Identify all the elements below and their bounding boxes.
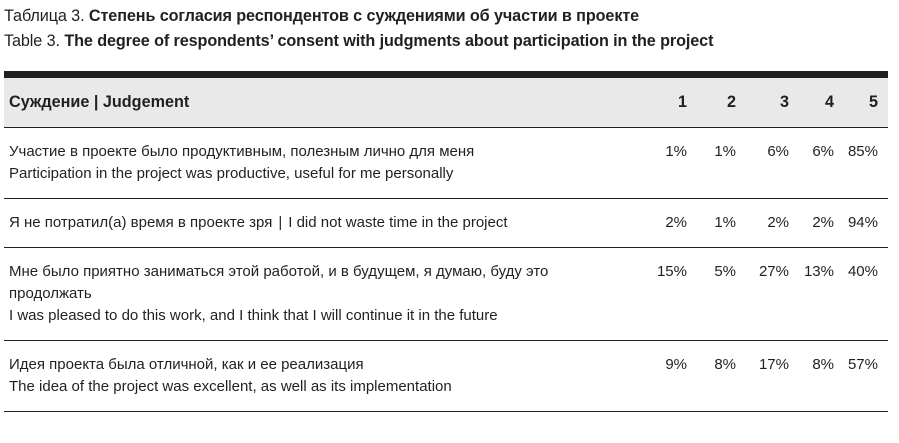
- value-5: 40%: [844, 248, 888, 341]
- caption-title-ru: Степень согласия респондентов с суждения…: [89, 7, 639, 25]
- judgement-ru: Идея проекта была отличной, как и ее реа…: [9, 354, 648, 376]
- value-1: 9%: [648, 341, 697, 412]
- caption-line-en: Table 3. The degree of respondents’ cons…: [4, 29, 895, 54]
- judgement-inline: Я не потратил(а) время в проекте зря|I d…: [9, 212, 648, 234]
- judgement-en: I did not waste time in the project: [288, 214, 507, 231]
- caption-title-en: The degree of respondents’ consent with …: [64, 32, 713, 50]
- judgement-text: Идея проекта была отличной, как и ее реа…: [4, 341, 648, 412]
- column-header-judgement: Суждение | Judgement: [4, 78, 648, 128]
- value-4: 6%: [799, 128, 844, 199]
- judgement-ru-cont: продолжать: [9, 283, 648, 305]
- judgement-ru: Я не потратил(а) время в проекте зря: [9, 214, 272, 231]
- table-row: Идея проекта была отличной, как и ее реа…: [4, 341, 888, 412]
- judgement-text: Участие в проекте было продуктивным, пол…: [4, 128, 648, 199]
- value-1: 1%: [648, 128, 697, 199]
- value-5: 94%: [844, 199, 888, 248]
- value-3: 27%: [746, 248, 799, 341]
- judgement-en: I was pleased to do this work, and I thi…: [9, 305, 648, 327]
- value-3: 17%: [746, 341, 799, 412]
- table-head: Суждение | Judgement 1 2 3 4 5: [4, 78, 888, 128]
- column-header-1: 1: [648, 78, 697, 128]
- value-1: 2%: [648, 199, 697, 248]
- caption-label-en: Table 3.: [4, 32, 60, 50]
- value-2: 1%: [697, 199, 746, 248]
- judgement-text: Мне было приятно заниматься этой работой…: [4, 248, 648, 341]
- column-header-4: 4: [799, 78, 844, 128]
- table-figure: Таблица 3. Степень согласия респондентов…: [0, 0, 899, 443]
- value-5: 85%: [844, 128, 888, 199]
- value-2: 8%: [697, 341, 746, 412]
- value-1: 15%: [648, 248, 697, 341]
- column-header-2: 2: [697, 78, 746, 128]
- judgement-en: Participation in the project was product…: [9, 163, 648, 185]
- agreement-table: Суждение | Judgement 1 2 3 4 5 Участие в…: [4, 78, 888, 412]
- column-header-3: 3: [746, 78, 799, 128]
- judgement-separator: |: [272, 214, 288, 231]
- caption-line-ru: Таблица 3. Степень согласия респондентов…: [4, 4, 895, 29]
- header-row: Суждение | Judgement 1 2 3 4 5: [4, 78, 888, 128]
- table-container: Суждение | Judgement 1 2 3 4 5 Участие в…: [4, 71, 888, 412]
- judgement-text: Я не потратил(а) время в проекте зря|I d…: [4, 199, 648, 248]
- value-3: 2%: [746, 199, 799, 248]
- value-4: 8%: [799, 341, 844, 412]
- value-4: 13%: [799, 248, 844, 341]
- table-row: Участие в проекте было продуктивным, пол…: [4, 128, 888, 199]
- table-row: Мне было приятно заниматься этой работой…: [4, 248, 888, 341]
- value-4: 2%: [799, 199, 844, 248]
- value-2: 5%: [697, 248, 746, 341]
- caption-label-ru: Таблица 3.: [4, 7, 84, 25]
- judgement-ru: Участие в проекте было продуктивным, пол…: [9, 141, 648, 163]
- judgement-en: The idea of the project was excellent, a…: [9, 376, 648, 398]
- judgement-ru: Мне было приятно заниматься этой работой…: [9, 261, 648, 283]
- table-body: Участие в проекте было продуктивным, пол…: [4, 128, 888, 412]
- table-caption: Таблица 3. Степень согласия респондентов…: [4, 4, 895, 54]
- value-5: 57%: [844, 341, 888, 412]
- table-top-rule: [4, 71, 888, 78]
- value-2: 1%: [697, 128, 746, 199]
- value-3: 6%: [746, 128, 799, 199]
- table-row: Я не потратил(а) время в проекте зря|I d…: [4, 199, 888, 248]
- column-header-5: 5: [844, 78, 888, 128]
